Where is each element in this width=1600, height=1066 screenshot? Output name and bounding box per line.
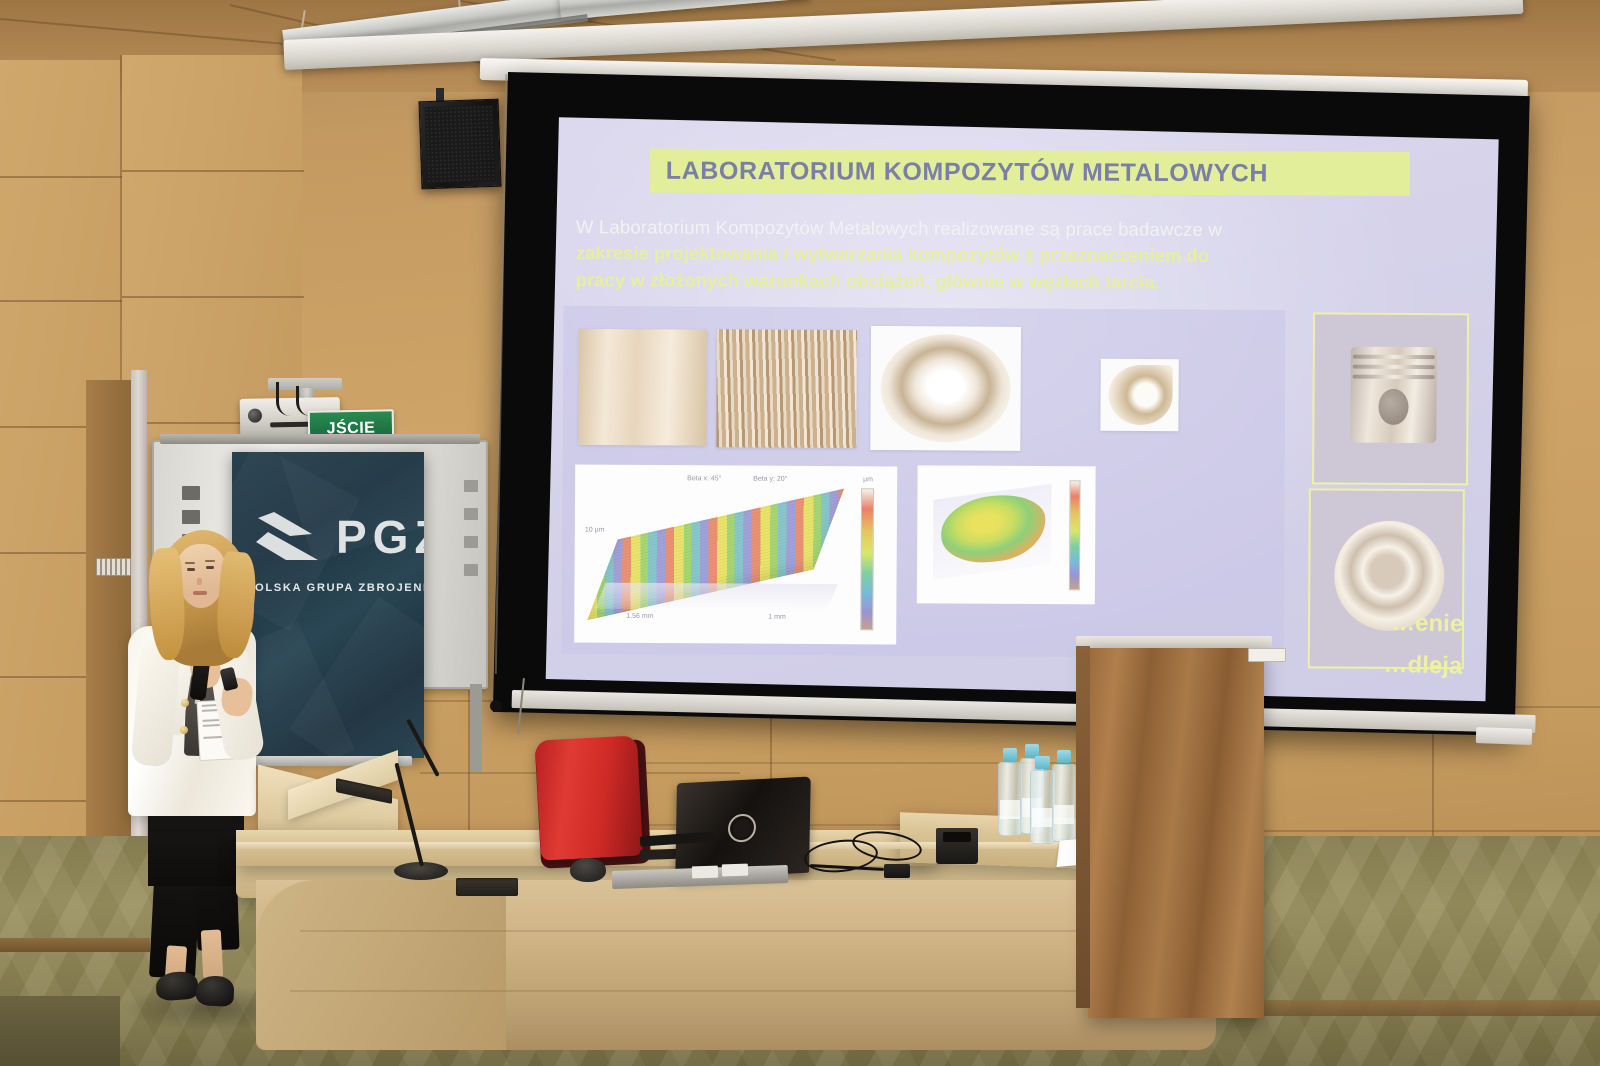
plot-x-axis-label: 1.56 mm — [626, 613, 653, 620]
presenter-ankle-right — [201, 930, 223, 979]
wireless-mouse[interactable] — [570, 858, 606, 882]
slide-title: LABORATORIUM KOMPOZYTÓW METALOWYCH — [666, 156, 1268, 188]
podium-plaque — [1248, 648, 1286, 662]
tablet-stand[interactable] — [936, 828, 978, 864]
laptop-sticker — [722, 864, 748, 877]
whiteboard-side-button[interactable] — [464, 536, 478, 548]
slide-title-band: LABORATORIUM KOMPOZYTÓW METALOWYCH — [650, 149, 1410, 196]
bearing-ring-photo — [880, 334, 1011, 443]
figure-engine-piston — [1312, 312, 1469, 485]
speaker-grille — [425, 105, 496, 183]
composite-chip-micrograph — [1108, 365, 1172, 425]
slide-bottom-text-line-2: …dleja — [1383, 651, 1462, 681]
figure-fiber-longitudinal — [578, 329, 707, 446]
podium-side — [1076, 646, 1090, 1008]
desk-panel-seam — [300, 930, 1210, 932]
slide-body-line-2: zakresie projektowania i wytwarzania kom… — [576, 240, 1456, 270]
plot-colorbar — [860, 488, 874, 630]
whiteboard-top-rail — [160, 434, 480, 444]
panel-seam — [1240, 830, 1600, 832]
water-bottle[interactable] — [1052, 750, 1076, 842]
bottle-body — [1052, 764, 1076, 842]
water-bottle[interactable] — [998, 748, 1022, 836]
bottle-label — [1000, 800, 1020, 819]
figure-wear-scar-plot — [917, 465, 1096, 604]
plot-colorbar-unit: µm — [863, 476, 873, 483]
desk-cable-port[interactable] — [456, 878, 518, 896]
presenter-shoe-right — [195, 975, 235, 1007]
whiteboard-side-button[interactable] — [464, 508, 478, 520]
slide-body-text: W Laboratorium Kompozytów Metalowych rea… — [576, 214, 1456, 297]
figure-fiber-cross-section — [716, 329, 857, 448]
projection-screen-border: LABORATORIUM KOMPOZYTÓW METALOWYCH W Lab… — [493, 72, 1530, 736]
pgz-tagline: POLSKA GRUPA ZBROJENIOWA — [246, 582, 424, 594]
panel-seam — [122, 296, 304, 298]
piston-pin-hole — [1378, 389, 1408, 425]
wear-plot-colorbar — [1069, 480, 1081, 590]
stand-slot — [943, 832, 971, 842]
presenter-brow-left — [185, 562, 195, 564]
presenter-mouth — [193, 591, 207, 595]
piston-ring — [1353, 375, 1435, 380]
presenter-eye-left — [187, 568, 195, 571]
pgz-rollup-banner: PGZ POLSKA GRUPA ZBROJENIOWA — [232, 452, 424, 758]
dell-logo-icon — [728, 813, 756, 843]
plot-base-block — [595, 583, 838, 610]
conference-room-photo: LABORATORIUM KOMPOZYTÓW METALOWYCH W Lab… — [0, 0, 1600, 1066]
slide-bottom-text-line-1: …enie — [1391, 609, 1464, 639]
presenter-nose — [197, 578, 202, 585]
desk-panel-seam — [290, 990, 1210, 992]
ceiling-speaker — [418, 99, 501, 190]
whiteboard-side-button[interactable] — [464, 564, 478, 576]
figure-bearing-bush — [1308, 488, 1465, 669]
whiteboard-side-button[interactable] — [464, 480, 478, 492]
baseboard — [1215, 1000, 1600, 1016]
power-adapter — [884, 864, 910, 878]
presentation-slide: LABORATORIUM KOMPOZYTÓW METALOWYCH W Lab… — [546, 117, 1499, 701]
panel-seam — [0, 300, 122, 302]
bottle-body — [998, 762, 1022, 836]
projector-cable — [276, 382, 295, 416]
bottle-label — [1032, 808, 1053, 827]
whiteboard-print-icon[interactable] — [182, 486, 200, 500]
piston-ring — [1353, 365, 1435, 370]
chair-backrest[interactable] — [535, 735, 643, 860]
piston-ring — [1353, 355, 1435, 360]
bottle-cap — [1003, 748, 1017, 761]
floor-step — [0, 996, 120, 1066]
whiteboard-leg — [470, 684, 482, 772]
pgz-logo-mark — [256, 508, 328, 570]
bottle-cap — [1035, 756, 1050, 769]
bottle-label — [1054, 805, 1074, 825]
figure-composite-chip-panel — [1100, 359, 1178, 431]
jacket-button — [181, 699, 189, 707]
plot-z-axis-label: 10 µm — [585, 527, 605, 534]
desk-front-curve — [256, 880, 506, 1050]
presenter-eye-right — [206, 566, 214, 569]
panel-seam — [122, 170, 304, 172]
speaking-podium — [1088, 648, 1264, 1018]
plot-angle-label-2: Beta y: 20° — [753, 476, 787, 483]
slide-body-line-1: W Laboratorium Kompozytów Metalowych rea… — [576, 214, 1456, 244]
pgz-brand-text: PGZ — [336, 510, 424, 564]
panel-seam — [0, 176, 122, 178]
figure-bearing-ring-panel — [870, 326, 1021, 451]
presenter-brow-right — [205, 560, 215, 562]
baseboard — [0, 938, 150, 952]
plot-angle-label-1: Beta x: 45° — [687, 475, 721, 482]
desk-microphone-head — [490, 700, 502, 712]
plot-y-axis-label: 1 mm — [768, 614, 786, 621]
projector-lens — [248, 408, 262, 422]
air-vent — [96, 558, 132, 576]
whiteboard-copy-icon[interactable] — [182, 510, 200, 524]
figure-surface-topography-plot: Beta x: 45° Beta y: 20° 10 µm 1.56 mm 1 … — [574, 465, 897, 645]
laptop-sticker — [692, 866, 718, 879]
projection-screen-pull-tab[interactable] — [1476, 727, 1533, 745]
slide-body-line-3: pracy w złożonych warunkach obciążeń, gł… — [576, 267, 1456, 297]
jacket-button — [180, 726, 188, 734]
bottle-cap — [1057, 750, 1071, 763]
